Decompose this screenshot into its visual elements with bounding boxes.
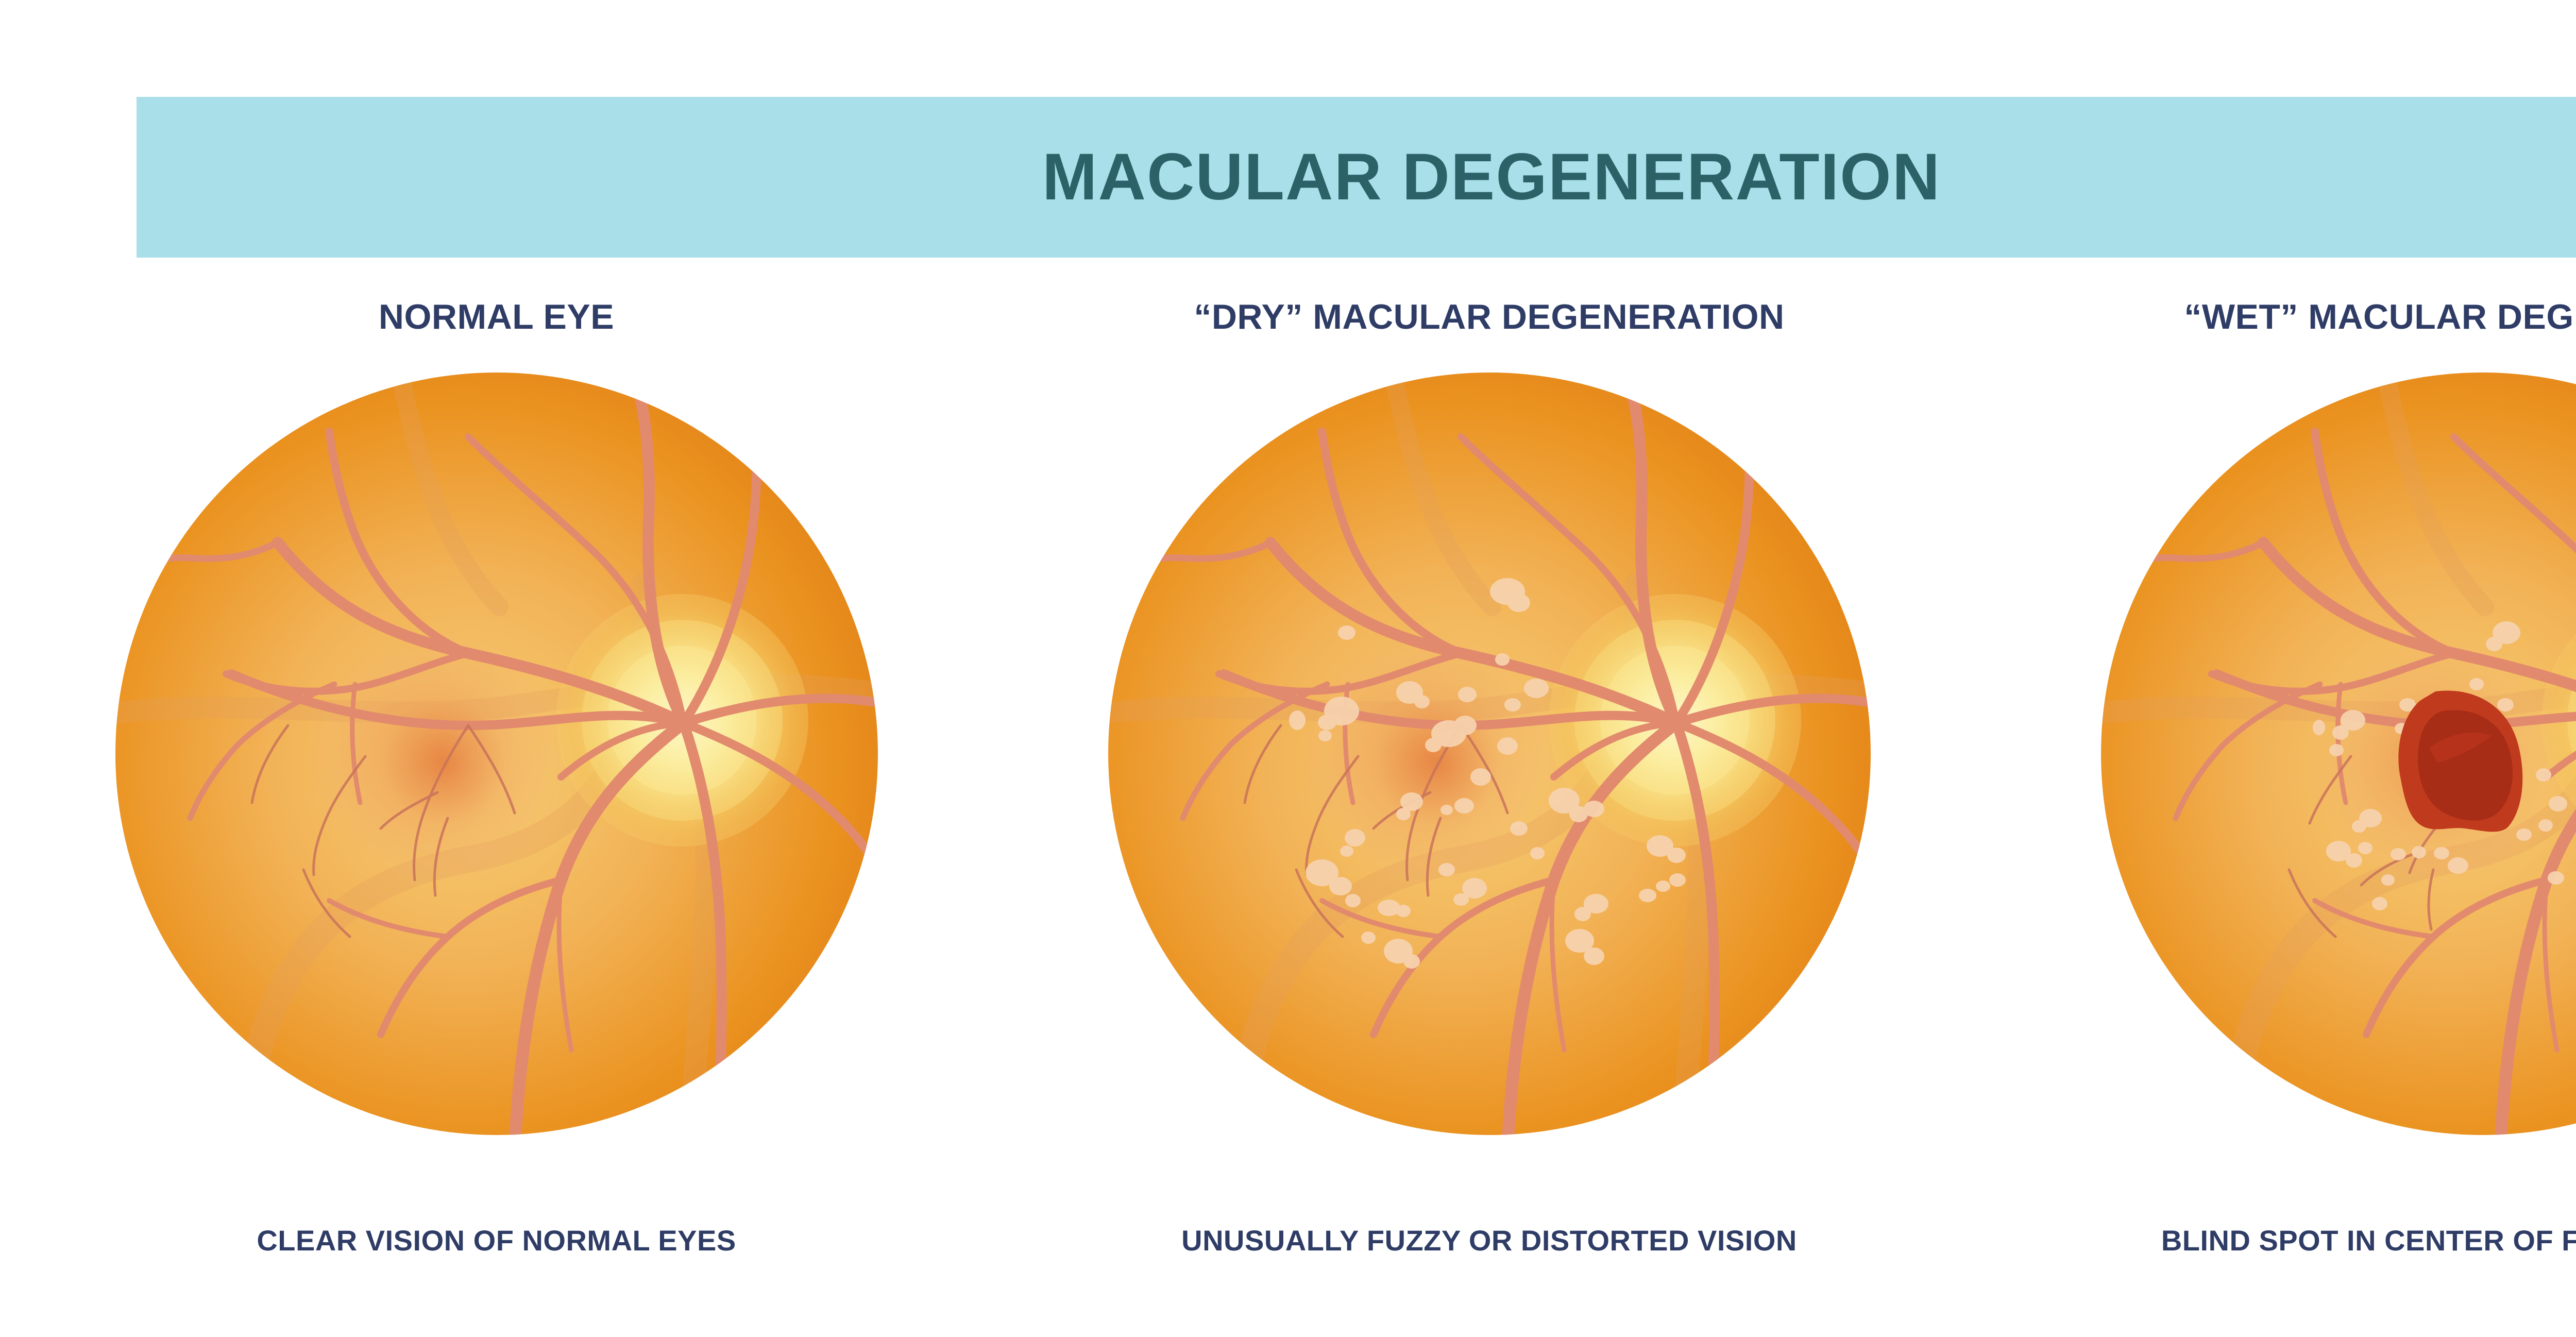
panel-dry-amd: “DRY” MACULAR DEGENERATION bbox=[993, 289, 1986, 1298]
panel-wet-amd: “WET” MACULAR DEGENERATION bbox=[1986, 289, 2576, 1298]
panel-heading-dry-amd: “DRY” MACULAR DEGENERATION bbox=[1194, 289, 1784, 345]
retina-fundus-svg bbox=[2093, 365, 2576, 1143]
panel-caption-wet-amd: BLIND SPOT IN CENTER OF FIELD OF VISION bbox=[1986, 1224, 2576, 1257]
panel-heading-normal-eye: NORMAL EYE bbox=[379, 289, 614, 345]
fundus-illustration-normal-eye bbox=[108, 365, 886, 1143]
retina-fundus-svg bbox=[108, 365, 886, 1143]
panel-heading-wet-amd: “WET” MACULAR DEGENERATION bbox=[2184, 289, 2576, 345]
fundus-illustration-dry-amd bbox=[1100, 365, 1878, 1143]
panel-row: NORMAL EYE bbox=[0, 289, 2576, 1298]
page-title: MACULAR DEGENERATION bbox=[1042, 144, 1941, 210]
fundus-illustration-wet-amd bbox=[2093, 365, 2576, 1143]
panel-caption-normal-eye: CLEAR VISION OF NORMAL EYES bbox=[0, 1224, 993, 1257]
panel-caption-dry-amd: UNUSUALLY FUZZY OR DISTORTED VISION bbox=[993, 1224, 1986, 1257]
retina-fundus-svg bbox=[1100, 365, 1878, 1143]
panel-normal-eye: NORMAL EYE bbox=[0, 289, 993, 1298]
title-banner: MACULAR DEGENERATION bbox=[137, 97, 2576, 258]
